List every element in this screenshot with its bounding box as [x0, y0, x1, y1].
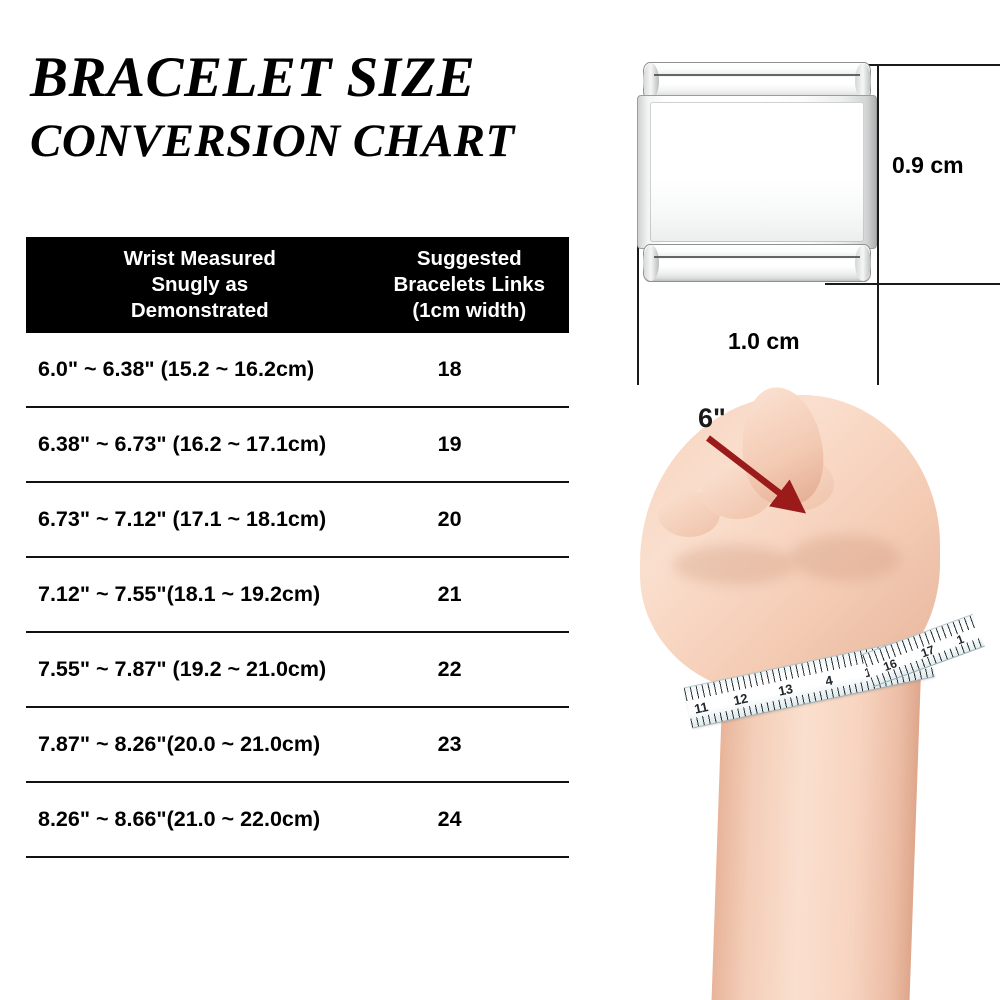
dimension-line-bottom: [825, 283, 1000, 285]
links-count-cell: 22: [356, 657, 569, 682]
title-line-2: CONVERSION CHART: [30, 115, 590, 168]
table-row: 7.55" ~ 7.87" (19.2 ~ 21.0cm)22: [26, 633, 569, 708]
links-count-cell: 19: [356, 432, 569, 457]
hand-shadow-2: [790, 535, 900, 581]
links-count-cell: 20: [356, 507, 569, 532]
table-row: 6.38" ~ 6.73" (16.2 ~ 17.1cm)19: [26, 408, 569, 483]
width-dimension-label: 1.0 cm: [728, 328, 800, 355]
wrist-range-cell: 7.55" ~ 7.87" (19.2 ~ 21.0cm): [26, 657, 356, 682]
wrist-measurement-photo: 11 12 13 4 15 16 16 17 1 6": [600, 385, 1000, 1000]
wrist-range-cell: 6.73" ~ 7.12" (17.1 ~ 18.1cm): [26, 507, 356, 532]
wrist-range-cell: 7.87" ~ 8.26"(20.0 ~ 21.0cm): [26, 732, 356, 757]
table-body: 6.0" ~ 6.38" (15.2 ~ 16.2cm)186.38" ~ 6.…: [26, 333, 569, 858]
charm-rail-cap-right-bottom: [855, 245, 871, 281]
dimension-line-right-vertical: [877, 230, 879, 385]
hand-shadow-1: [674, 545, 794, 585]
table-row: 8.26" ~ 8.66"(21.0 ~ 22.0cm)24: [26, 783, 569, 858]
wrist-range-cell: 6.0" ~ 6.38" (15.2 ~ 16.2cm): [26, 357, 356, 382]
table-row: 6.0" ~ 6.38" (15.2 ~ 16.2cm)18: [26, 333, 569, 408]
table-row: 7.12" ~ 7.55"(18.1 ~ 19.2cm)21: [26, 558, 569, 633]
charm-rail-bottom: [643, 244, 871, 282]
column-header-wrist: Wrist Measured Snugly as Demonstrated: [26, 246, 370, 323]
table-row: 7.87" ~ 8.26"(20.0 ~ 21.0cm)23: [26, 708, 569, 783]
charm-face-plate: [637, 95, 877, 249]
table-header-row: Wrist Measured Snugly as Demonstrated Su…: [26, 237, 569, 333]
wrist-range-cell: 8.26" ~ 8.66"(21.0 ~ 22.0cm): [26, 807, 356, 832]
size-conversion-table: Wrist Measured Snugly as Demonstrated Su…: [26, 237, 569, 858]
charm-rail-cap-right: [855, 63, 871, 99]
bracelet-link-diagram: 0.9 cm 1.0 cm: [600, 40, 1000, 385]
charm-rail-cap-left-bottom: [643, 245, 659, 281]
height-dimension-label: 0.9 cm: [892, 152, 964, 179]
tape-number: 4: [824, 672, 834, 688]
title-line-1: BRACELET SIZE: [30, 48, 590, 107]
links-count-cell: 18: [356, 357, 569, 382]
wrist-range-cell: 7.12" ~ 7.55"(18.1 ~ 19.2cm): [26, 582, 356, 607]
charm-rail-cap-left: [643, 63, 659, 99]
tape-number: 11: [693, 699, 710, 717]
charm-face-plate-inner: [650, 102, 864, 242]
tape-number: 12: [732, 690, 749, 708]
measure-label-six-inch: 6": [698, 403, 726, 434]
links-count-cell: 23: [356, 732, 569, 757]
table-row: 6.73" ~ 7.12" (17.1 ~ 18.1cm)20: [26, 483, 569, 558]
charm-link-graphic: [637, 62, 877, 282]
tape-number: 13: [777, 680, 794, 698]
column-header-links: Suggested Bracelets Links (1cm width): [370, 246, 569, 323]
links-count-cell: 24: [356, 807, 569, 832]
links-count-cell: 21: [356, 582, 569, 607]
page-title: BRACELET SIZE CONVERSION CHART: [30, 48, 590, 168]
wrist-range-cell: 6.38" ~ 6.73" (16.2 ~ 17.1cm): [26, 432, 356, 457]
